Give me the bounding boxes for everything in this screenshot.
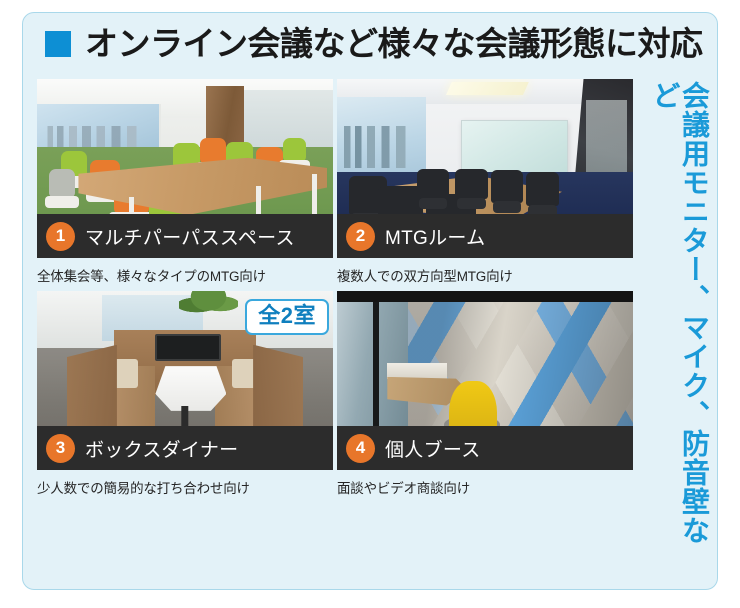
blue-square-bullet-icon (45, 31, 71, 57)
card-label-text: MTGルーム (385, 223, 485, 250)
room-card-grid: 1 マルチパーパススペース 全体集会等、様々なタイプのMTG向け (37, 79, 637, 497)
card-caption: 少人数での簡易的な打ち合わせ向け (37, 477, 337, 497)
card-number-badge: 3 (46, 434, 75, 463)
page-title-text: オンライン会議など様々な会議形態に対応 (85, 27, 703, 60)
card-label-text: マルチパーパススペース (85, 223, 295, 250)
card-label-bar: 3 ボックスダイナー (37, 426, 333, 470)
card-number-badge: 2 (346, 222, 375, 251)
card-caption: 面談やビデオ商談向け (337, 477, 637, 497)
card-label-bar: 1 マルチパーパススペース (37, 214, 333, 258)
card-caption: 全体集会等、様々なタイプのMTG向け (37, 265, 337, 285)
card-label-text: ボックスダイナー (85, 435, 238, 462)
page-title: オンライン会議など様々な会議形態に対応 (45, 27, 703, 60)
side-vertical-caption: 会議用モニター、マイク、防音壁など (663, 81, 709, 551)
room-card-2[interactable]: 2 MTGルーム 複数人での双方向型MTG向け (337, 79, 637, 285)
card-label-bar: 4 個人ブース (337, 426, 633, 470)
room-card-1[interactable]: 1 マルチパーパススペース 全体集会等、様々なタイプのMTG向け (37, 79, 337, 285)
rooms-count-badge: 全2室 (245, 299, 329, 335)
room-card-3[interactable]: 全2室 3 ボックスダイナー 少人数での簡易的な打ち合わせ向け (37, 291, 337, 497)
card-label-bar: 2 MTGルーム (337, 214, 633, 258)
card-number-badge: 1 (46, 222, 75, 251)
card-caption: 複数人での双方向型MTG向け (337, 265, 637, 285)
card-number-badge: 4 (346, 434, 375, 463)
multipurpose-space-photo: 1 マルチパーパススペース (37, 79, 333, 258)
mtg-room-photo: 2 MTGルーム (337, 79, 633, 258)
card-label-text: 個人ブース (385, 435, 481, 462)
feature-panel: オンライン会議など様々な会議形態に対応 会議用モニター、マイク、防音壁など (22, 12, 718, 590)
room-card-4[interactable]: 4 個人ブース 面談やビデオ商談向け (337, 291, 637, 497)
box-diner-photo: 全2室 3 ボックスダイナー (37, 291, 333, 470)
private-booth-photo: 4 個人ブース (337, 291, 633, 470)
